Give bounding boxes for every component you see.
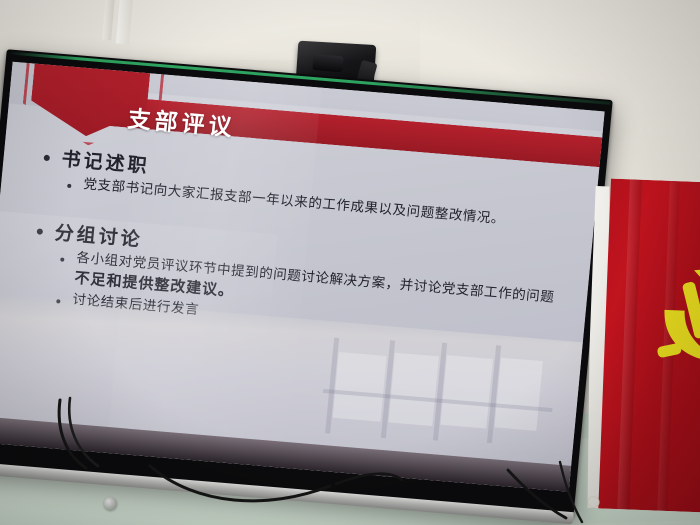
presentation-slide: 支部评议 书记述职 党支部书记向大家汇报支部一年以来的工作成果以及问题整改情况。 (0, 62, 605, 492)
communist-party-flag (583, 178, 700, 512)
window-reflection (440, 355, 492, 429)
television-assembly: 支部评议 书记述职 党支部书记向大家汇报支部一年以来的工作成果以及问题整改情况。 (0, 14, 658, 525)
hammer-and-sickle-emblem (655, 256, 700, 369)
window-reflection (388, 353, 438, 426)
tv-screen[interactable]: 支部评议 书记述职 党支部书记向大家汇报支部一年以来的工作成果以及问题整改情况。 (0, 62, 605, 492)
bullet-dot-icon (44, 155, 51, 161)
window-reflection (333, 352, 387, 422)
photograph-scene: 支部评议 书记述职 党支部书记向大家汇报支部一年以来的工作成果以及问题整改情况。 (0, 0, 700, 525)
bullet-dot-icon (67, 184, 71, 188)
window-reflection (494, 358, 542, 431)
camera-lens-icon (312, 54, 343, 72)
